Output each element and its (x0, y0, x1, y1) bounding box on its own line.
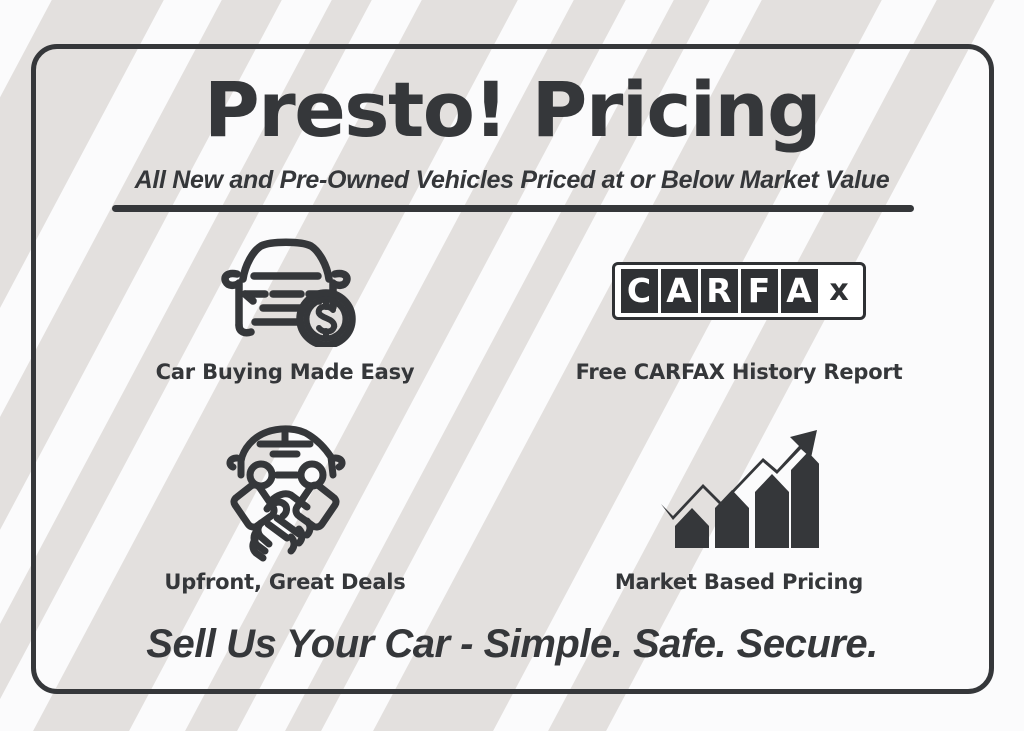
feature-car-buying-made-easy: Car Buying Made Easy (58, 232, 512, 416)
feature-label: Car Buying Made Easy (156, 360, 415, 384)
carfax-cell: A (661, 269, 698, 313)
carfax-cell: A (781, 269, 818, 313)
carfax-cell-final: x (821, 269, 858, 313)
feature-upfront-great-deals: Upfront, Great Deals (58, 416, 512, 600)
page-tagline: Sell Us Your Car - Simple. Safe. Secure. (0, 620, 1024, 668)
car-front-with-dollar-coin-icon (209, 232, 361, 350)
bar-chart-up-arrow-icon (659, 416, 819, 566)
feature-free-carfax-history-report: C A R F A x Free CARFAX History Report (512, 232, 966, 416)
feature-market-based-pricing: Market Based Pricing (512, 416, 966, 600)
page-title: Presto! Pricing (0, 72, 1024, 148)
presto-pricing-poster: Presto! Pricing All New and Pre-Owned Ve… (0, 0, 1024, 731)
title-divider (112, 205, 914, 212)
page-subtitle: All New and Pre-Owned Vehicles Priced at… (0, 165, 1024, 195)
feature-label: Market Based Pricing (615, 570, 863, 594)
carfax-cell: C (621, 269, 658, 313)
carfax-cell: R (701, 269, 738, 313)
feature-label: Free CARFAX History Report (576, 360, 903, 384)
carfax-logo-icon: C A R F A x (612, 262, 866, 320)
feature-label: Upfront, Great Deals (164, 570, 405, 594)
carfax-cell: F (741, 269, 778, 313)
feature-grid: Car Buying Made Easy C A R F A x Free CA… (58, 232, 966, 600)
car-handshake-icon (215, 416, 355, 566)
